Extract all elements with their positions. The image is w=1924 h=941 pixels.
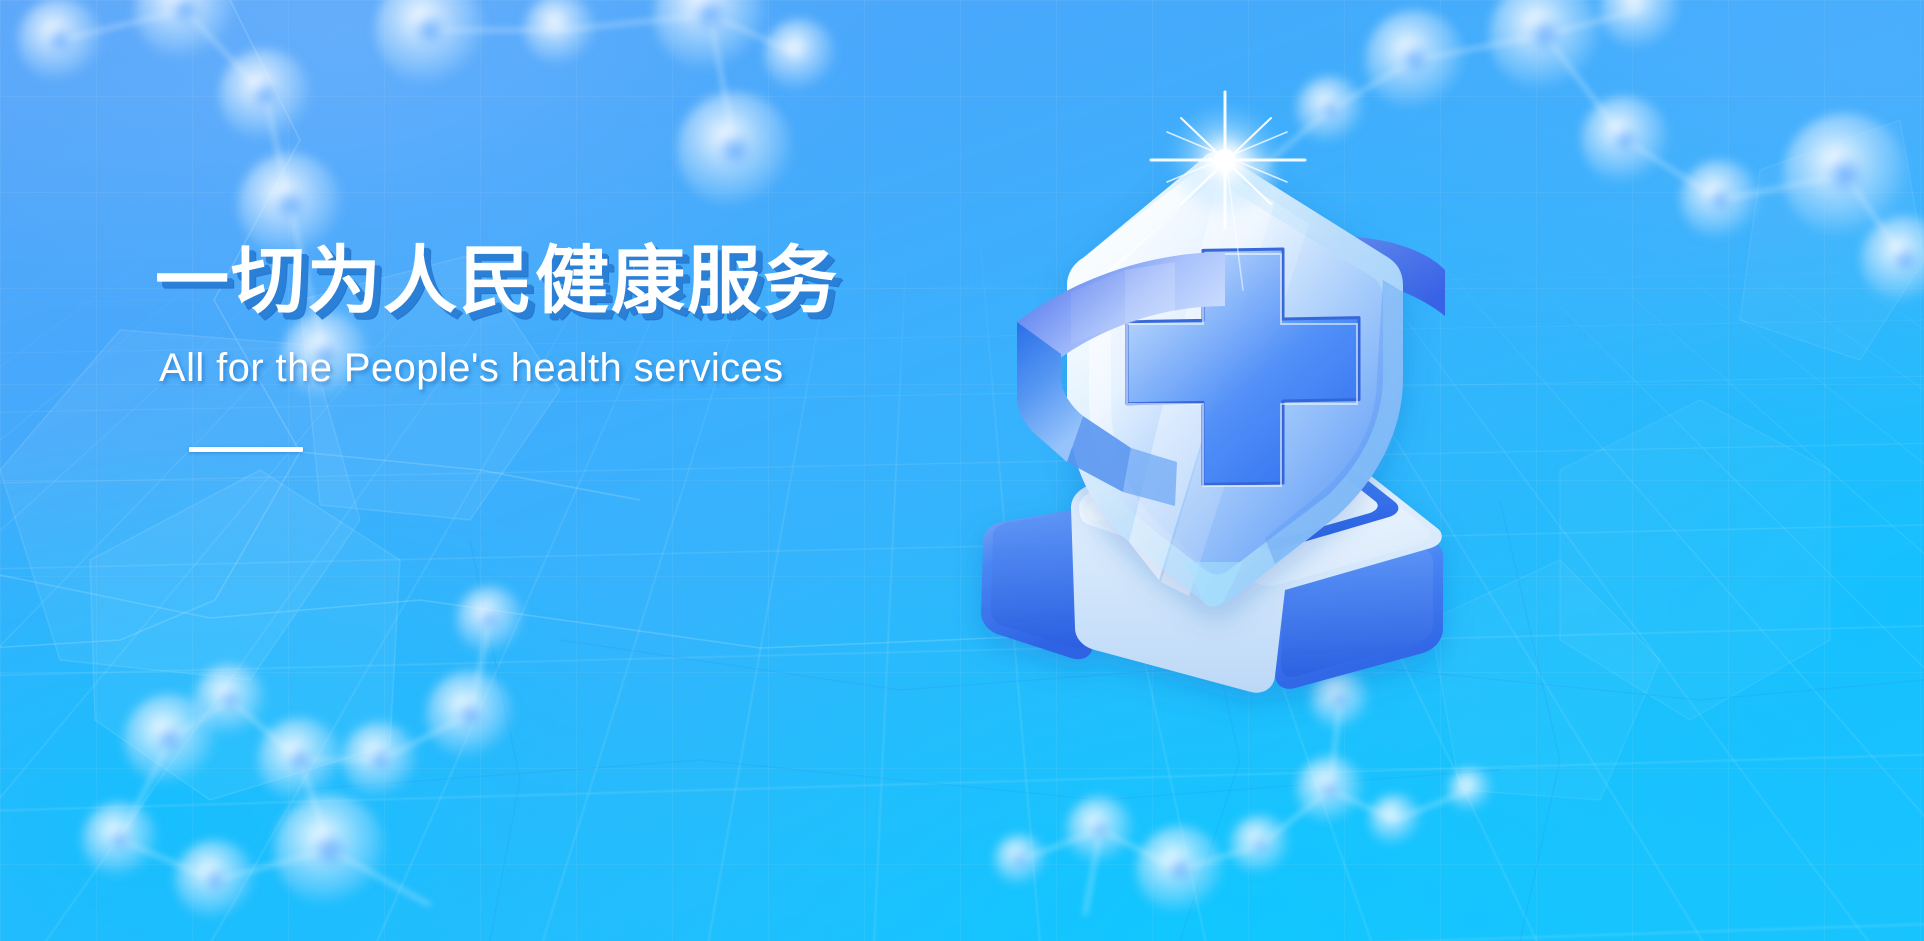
page-title: 一切为人民健康服务	[155, 243, 1055, 318]
banner-text-block: 一切为人民健康服务 All for the People's health se…	[155, 243, 1055, 452]
health-banner: 一切为人民健康服务 All for the People's health se…	[0, 0, 1924, 941]
page-subtitle: All for the People's health services	[159, 346, 1055, 391]
title-divider	[189, 447, 303, 452]
medical-shield-illustration	[975, 110, 1455, 680]
molecule-icon	[0, 0, 1924, 941]
